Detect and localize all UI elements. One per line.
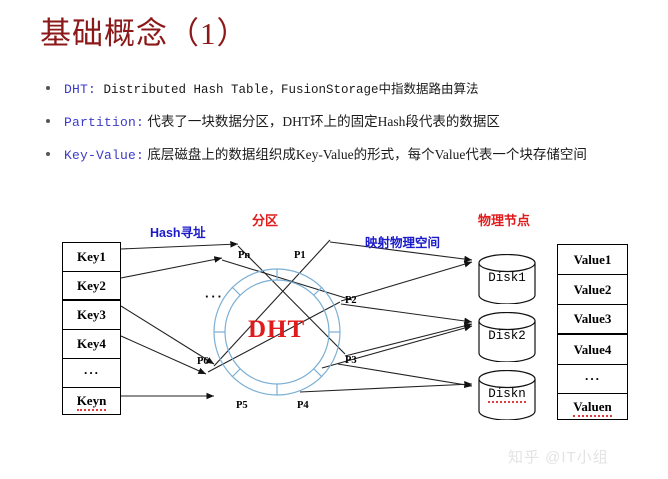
table-row: Value3 [558, 305, 627, 335]
list-item: Partition: 代表了一块数据分区，DHT环上的固定Hash段代表的数据区 [40, 111, 640, 134]
label-partition: 分区 [252, 210, 278, 229]
bullet-dot-icon [46, 152, 50, 156]
label-hash-addressing: Hash寻址 [150, 222, 206, 241]
table-row: ··· [558, 365, 627, 394]
table-row: Value1 [558, 245, 627, 275]
slide-canvas: 基础概念（1） DHT: Distributed Hash Table，Fusi… [0, 0, 668, 479]
disk-label: Diskn [477, 387, 537, 401]
table-cell-text: Valuen [573, 399, 612, 417]
ring-partition-p4: P4 [297, 400, 309, 411]
page-title: 基础概念（1） [40, 14, 249, 54]
ring-center-label: DHT [248, 316, 305, 344]
ring-partition-pn: Pn [238, 250, 250, 261]
table-row: Key1 [63, 243, 120, 272]
table-row: Key2 [63, 272, 120, 301]
bullet-dot-icon [46, 119, 50, 123]
watermark: 知乎 @IT小组 [508, 446, 609, 467]
table-row: Valuen [558, 394, 627, 421]
label-map-physical-space: 映射物理空间 [365, 232, 440, 251]
table-row: Value2 [558, 275, 627, 305]
bullet-text: Distributed Hash Table，FusionStorage中指数据… [96, 83, 479, 97]
disk-node-n: Diskn [477, 370, 537, 420]
list-item: DHT: Distributed Hash Table，FusionStorag… [40, 78, 640, 101]
ring-partition-p2: P2 [345, 295, 357, 306]
bullet-list: DHT: Distributed Hash Table，FusionStorag… [40, 78, 640, 177]
label-physical-node: 物理节点 [478, 210, 530, 229]
ring-ellipsis: ··· [205, 289, 224, 304]
bullet-text: 底层磁盘上的数据组织成Key-Value的形式，每个Value代表一个块存储空间 [144, 147, 587, 162]
value-table: Value1 Value2 Value3 Value4 ··· Valuen [557, 244, 628, 420]
ring-partition-p6: P6 [197, 356, 209, 367]
disk-node-1: Disk1 [477, 254, 537, 304]
disk-label: Disk1 [477, 271, 537, 285]
table-row: ··· [63, 359, 120, 388]
bullet-dot-icon [46, 86, 50, 90]
ring-partition-p3: P3 [345, 355, 357, 366]
dht-architecture-diagram: DHT Pn P1 P2 P3 P4 P5 P6 ··· Hash寻址 分区 映… [0, 196, 668, 436]
table-cell-text: Keyn [77, 393, 107, 411]
disk-label: Disk2 [477, 329, 537, 343]
table-row: Keyn [63, 388, 120, 415]
ring-partition-p5: P5 [236, 400, 248, 411]
list-item: Key-Value: 底层磁盘上的数据组织成Key-Value的形式，每个Val… [40, 144, 640, 167]
ring-partition-p1: P1 [294, 250, 306, 261]
table-row: Value4 [558, 335, 627, 365]
table-row: Key4 [63, 330, 120, 359]
bullet-keyword: DHT: [64, 82, 96, 97]
table-row: Key3 [63, 301, 120, 330]
bullet-keyword: Key-Value: [64, 148, 144, 163]
key-table: Key1 Key2 Key3 Key4 ··· Keyn [62, 242, 121, 415]
bullet-keyword: Partition: [64, 115, 144, 130]
disk-node-2: Disk2 [477, 312, 537, 362]
bullet-text: 代表了一块数据分区，DHT环上的固定Hash段代表的数据区 [144, 114, 500, 129]
